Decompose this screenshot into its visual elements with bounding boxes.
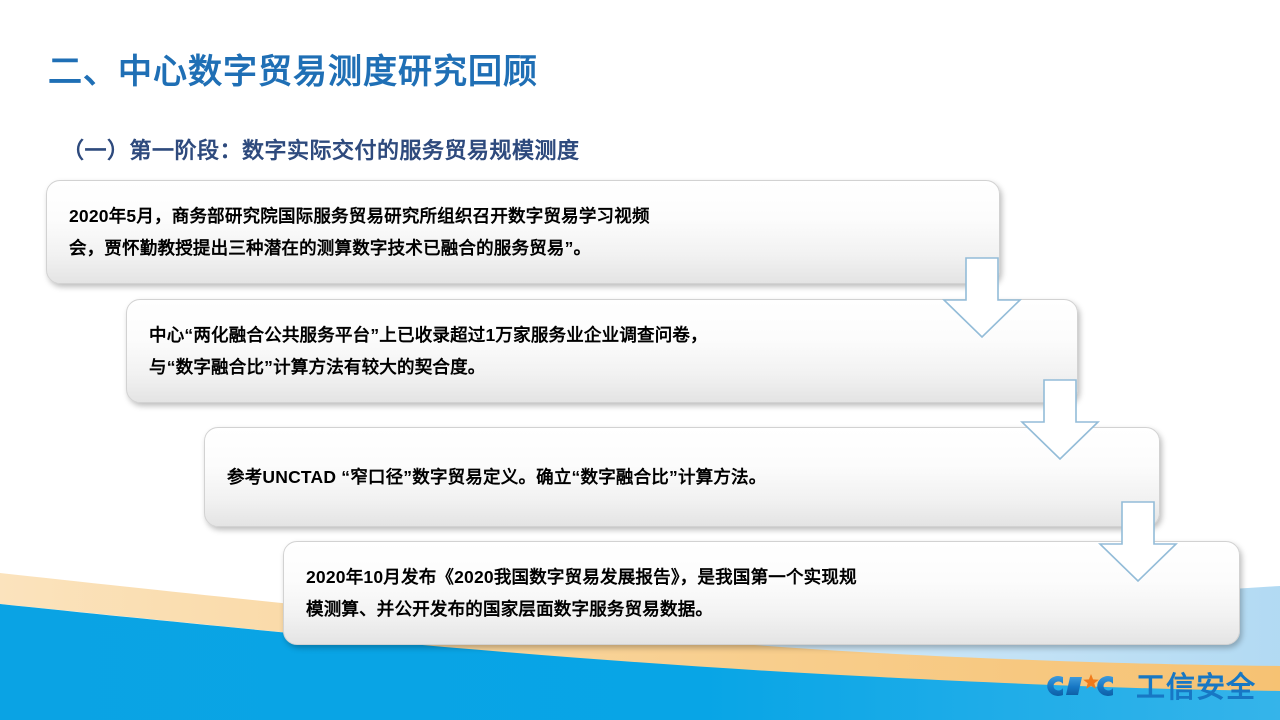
flow-step-box-3[interactable]: 参考UNCTAD “窄口径”数字贸易定义。确立“数字融合比”计算方法。 — [204, 427, 1160, 527]
flow-step-text-2-line1: 中心“两化融合公共服务平台”上已收录超过1万家服务业企业调查问卷， — [149, 319, 1059, 351]
flow-step-text-1: 2020年5月，商务部研究院国际服务贸易研究所组织召开数字贸易学习视频 会，贾怀… — [47, 200, 999, 265]
flow-step-text-4: 2020年10月发布《2020我国数字贸易发展报告》，是我国第一个实现规 模测算… — [284, 561, 1239, 626]
flow-step-text-3-line1: 参考UNCTAD “窄口径”数字贸易定义。确立“数字融合比”计算方法。 — [227, 461, 1141, 493]
cic-logo-icon — [1034, 666, 1130, 704]
section-subtitle: （一）第一阶段：数字实际交付的服务贸易规模测度 — [62, 133, 580, 165]
flow-step-text-2-line2: 与“数字融合比”计算方法有较大的契合度。 — [149, 351, 1059, 383]
flow-step-box-2[interactable]: 中心“两化融合公共服务平台”上已收录超过1万家服务业企业调查问卷， 与“数字融合… — [126, 299, 1078, 403]
brand-logo: 工信安全 — [1034, 664, 1256, 706]
flow-step-text-3: 参考UNCTAD “窄口径”数字贸易定义。确立“数字融合比”计算方法。 — [205, 461, 1159, 493]
flow-step-text-4-line1: 2020年10月发布《2020我国数字贸易发展报告》，是我国第一个实现规 — [306, 561, 1221, 593]
logo-wordmark: 工信安全 — [1136, 664, 1256, 706]
page-title: 二、中心数字贸易测度研究回顾 — [48, 44, 538, 93]
flow-step-text-4-line2: 模测算、并公开发布的国家层面数字服务贸易数据。 — [306, 593, 1221, 625]
flow-step-text-2: 中心“两化融合公共服务平台”上已收录超过1万家服务业企业调查问卷， 与“数字融合… — [127, 319, 1077, 384]
flow-step-text-1-line2: 会，贾怀勤教授提出三种潜在的测算数字技术已融合的服务贸易”。 — [69, 232, 981, 264]
flow-step-box-1[interactable]: 2020年5月，商务部研究院国际服务贸易研究所组织召开数字贸易学习视频 会，贾怀… — [46, 180, 1000, 284]
slide-canvas: 二、中心数字贸易测度研究回顾 （一）第一阶段：数字实际交付的服务贸易规模测度 2… — [0, 0, 1280, 720]
flow-step-text-1-line1: 2020年5月，商务部研究院国际服务贸易研究所组织召开数字贸易学习视频 — [69, 200, 981, 232]
flow-step-box-4[interactable]: 2020年10月发布《2020我国数字贸易发展报告》，是我国第一个实现规 模测算… — [283, 541, 1240, 645]
